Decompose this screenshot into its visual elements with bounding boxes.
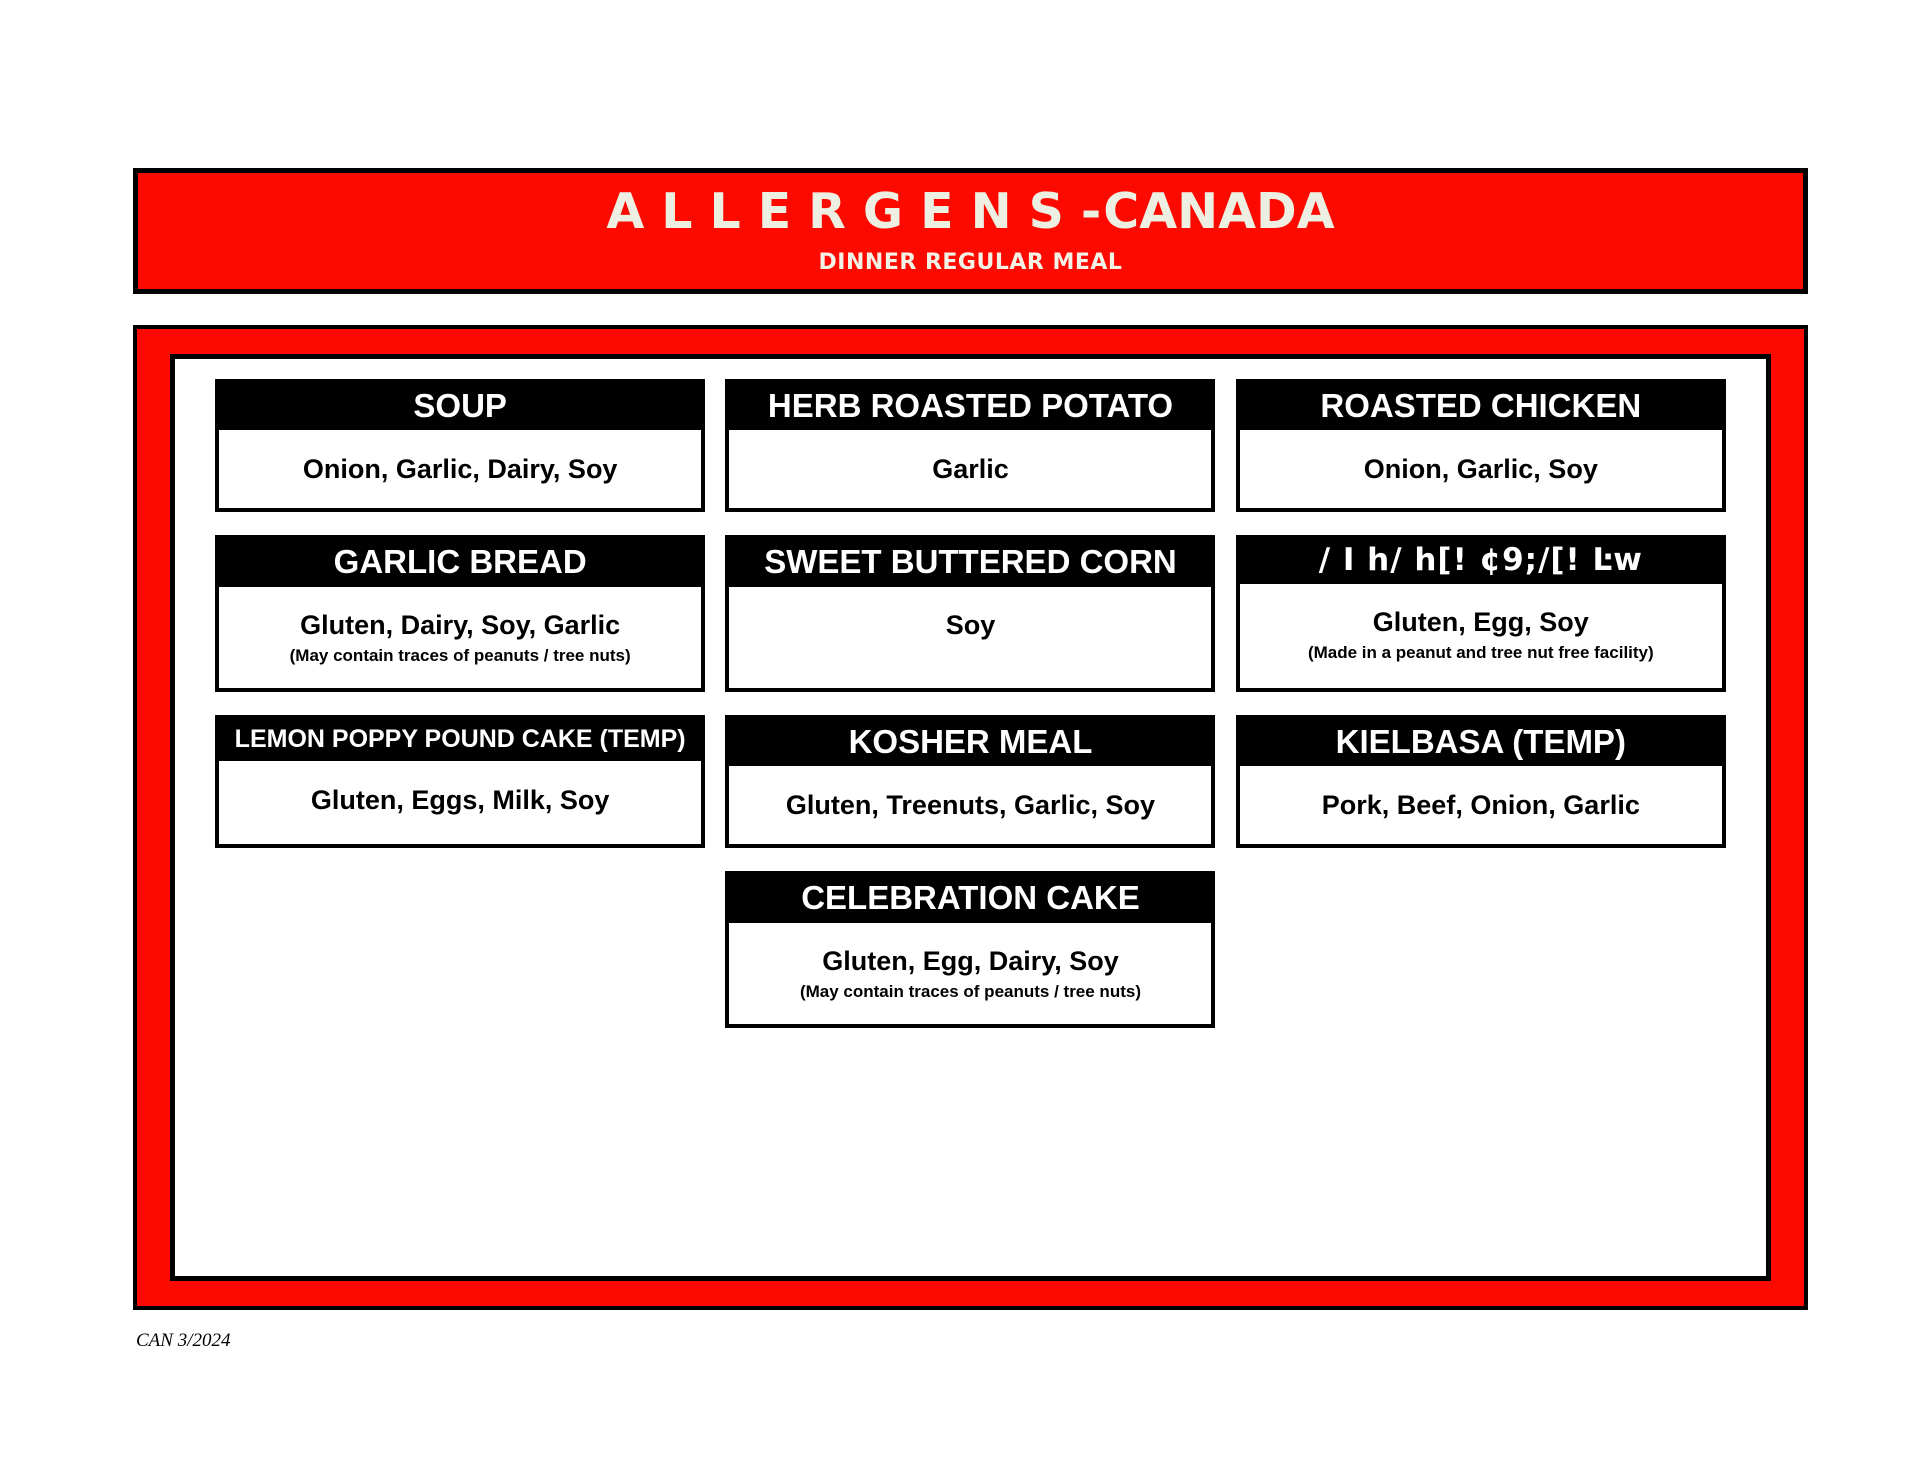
grid-cell: ROASTED CHICKENOnion, Garlic, Soy xyxy=(1226,379,1736,512)
card-title: SOUP xyxy=(219,383,701,430)
allergen-list: Onion, Garlic, Dairy, Soy xyxy=(229,453,691,485)
revision-footer: CAN 3/2024 xyxy=(136,1330,230,1352)
card-title: GARLIC BREAD xyxy=(219,539,701,586)
allergen-list: Gluten, Egg, Soy xyxy=(1250,606,1712,638)
card-title: KIELBASA (TEMP) xyxy=(1240,719,1722,766)
card-body: Gluten, Egg, Dairy, Soy(May contain trac… xyxy=(729,923,1211,1025)
poster-title-separator: - xyxy=(1081,187,1103,236)
allergen-list: Gluten, Dairy, Soy, Garlic xyxy=(229,609,691,641)
allergen-card-row: GARLIC BREADGluten, Dairy, Soy, Garlic(M… xyxy=(205,535,1736,692)
allergen-list: Onion, Garlic, Soy xyxy=(1250,453,1712,485)
allergen-card-grid: SOUPOnion, Garlic, Dairy, SoyHERB ROASTE… xyxy=(175,359,1766,1276)
grid-cell: SWEET BUTTERED CORNSoy xyxy=(715,535,1225,692)
allergen-card-lemon-poppy-pound-cake: LEMON POPPY POUND CAKE (TEMP)Gluten, Egg… xyxy=(215,715,705,848)
poster-title-country: CANADA xyxy=(1103,187,1334,236)
allergen-poster-page: ALLERGENS-CANADA DINNER REGULAR MEAL SOU… xyxy=(0,0,1920,1484)
title-line: ALLERGENS-CANADA xyxy=(606,187,1334,236)
allergen-note: (Made in a peanut and tree nut free faci… xyxy=(1250,642,1712,663)
allergen-card-kielbasa: KIELBASA (TEMP)Pork, Beef, Onion, Garlic xyxy=(1236,715,1726,848)
card-title: / I h/ h[! ¢9;/[! Ŀw xyxy=(1240,539,1722,584)
content-frame-inner: SOUPOnion, Garlic, Dairy, SoyHERB ROASTE… xyxy=(170,354,1771,1281)
allergen-card-soup: SOUPOnion, Garlic, Dairy, Soy xyxy=(215,379,705,512)
poster-title-main: ALLERGENS xyxy=(606,187,1081,236)
allergen-card-garlic-bread: GARLIC BREADGluten, Dairy, Soy, Garlic(M… xyxy=(215,535,705,692)
card-title: HERB ROASTED POTATO xyxy=(729,383,1211,430)
grid-cell xyxy=(205,871,715,1028)
allergen-card-chocolate-eclair-garbled: / I h/ h[! ¢9;/[! ĿwGluten, Egg, Soy(Mad… xyxy=(1236,535,1726,692)
allergen-note: (May contain traces of peanuts / tree nu… xyxy=(229,645,691,666)
allergen-card-row: LEMON POPPY POUND CAKE (TEMP)Gluten, Egg… xyxy=(205,715,1736,848)
card-title: SWEET BUTTERED CORN xyxy=(729,539,1211,586)
poster-subtitle: DINNER REGULAR MEAL xyxy=(819,250,1123,275)
title-banner: ALLERGENS-CANADA DINNER REGULAR MEAL xyxy=(133,168,1808,294)
grid-cell: GARLIC BREADGluten, Dairy, Soy, Garlic(M… xyxy=(205,535,715,692)
card-body: Soy xyxy=(729,587,1211,665)
allergen-card-row: CELEBRATION CAKEGluten, Egg, Dairy, Soy(… xyxy=(205,871,1736,1028)
card-body: Onion, Garlic, Soy xyxy=(1240,430,1722,508)
card-body: Gluten, Eggs, Milk, Soy xyxy=(219,761,701,839)
card-title: ROASTED CHICKEN xyxy=(1240,383,1722,430)
card-body: Gluten, Dairy, Soy, Garlic(May contain t… xyxy=(219,587,701,689)
card-body: Gluten, Egg, Soy(Made in a peanut and tr… xyxy=(1240,584,1722,686)
allergen-card-kosher-meal: KOSHER MEALGluten, Treenuts, Garlic, Soy xyxy=(725,715,1215,848)
allergen-card-herb-roasted-potato: HERB ROASTED POTATOGarlic xyxy=(725,379,1215,512)
allergen-card-celebration-cake: CELEBRATION CAKEGluten, Egg, Dairy, Soy(… xyxy=(725,871,1215,1028)
card-body: Pork, Beef, Onion, Garlic xyxy=(1240,766,1722,844)
card-title: CELEBRATION CAKE xyxy=(729,875,1211,922)
allergen-list: Garlic xyxy=(739,453,1201,485)
grid-cell xyxy=(1226,871,1736,1028)
grid-cell: KOSHER MEALGluten, Treenuts, Garlic, Soy xyxy=(715,715,1225,848)
card-title: KOSHER MEAL xyxy=(729,719,1211,766)
allergen-list: Soy xyxy=(739,609,1201,641)
allergen-list: Gluten, Treenuts, Garlic, Soy xyxy=(739,789,1201,821)
allergen-list: Pork, Beef, Onion, Garlic xyxy=(1250,789,1712,821)
allergen-list: Gluten, Eggs, Milk, Soy xyxy=(229,784,691,816)
grid-cell: CELEBRATION CAKEGluten, Egg, Dairy, Soy(… xyxy=(715,871,1225,1028)
card-body: Garlic xyxy=(729,430,1211,508)
card-body: Gluten, Treenuts, Garlic, Soy xyxy=(729,766,1211,844)
content-frame-outer: SOUPOnion, Garlic, Dairy, SoyHERB ROASTE… xyxy=(133,325,1808,1310)
allergen-card-sweet-buttered-corn: SWEET BUTTERED CORNSoy xyxy=(725,535,1215,692)
allergen-card-roasted-chicken: ROASTED CHICKENOnion, Garlic, Soy xyxy=(1236,379,1726,512)
card-title: LEMON POPPY POUND CAKE (TEMP) xyxy=(219,719,701,761)
grid-cell: SOUPOnion, Garlic, Dairy, Soy xyxy=(205,379,715,512)
card-body: Onion, Garlic, Dairy, Soy xyxy=(219,430,701,508)
allergen-list: Gluten, Egg, Dairy, Soy xyxy=(739,945,1201,977)
grid-cell: / I h/ h[! ¢9;/[! ĿwGluten, Egg, Soy(Mad… xyxy=(1226,535,1736,692)
allergen-card-row: SOUPOnion, Garlic, Dairy, SoyHERB ROASTE… xyxy=(205,379,1736,512)
allergen-note: (May contain traces of peanuts / tree nu… xyxy=(739,981,1201,1002)
grid-cell: HERB ROASTED POTATOGarlic xyxy=(715,379,1225,512)
grid-cell: KIELBASA (TEMP)Pork, Beef, Onion, Garlic xyxy=(1226,715,1736,848)
grid-cell: LEMON POPPY POUND CAKE (TEMP)Gluten, Egg… xyxy=(205,715,715,848)
